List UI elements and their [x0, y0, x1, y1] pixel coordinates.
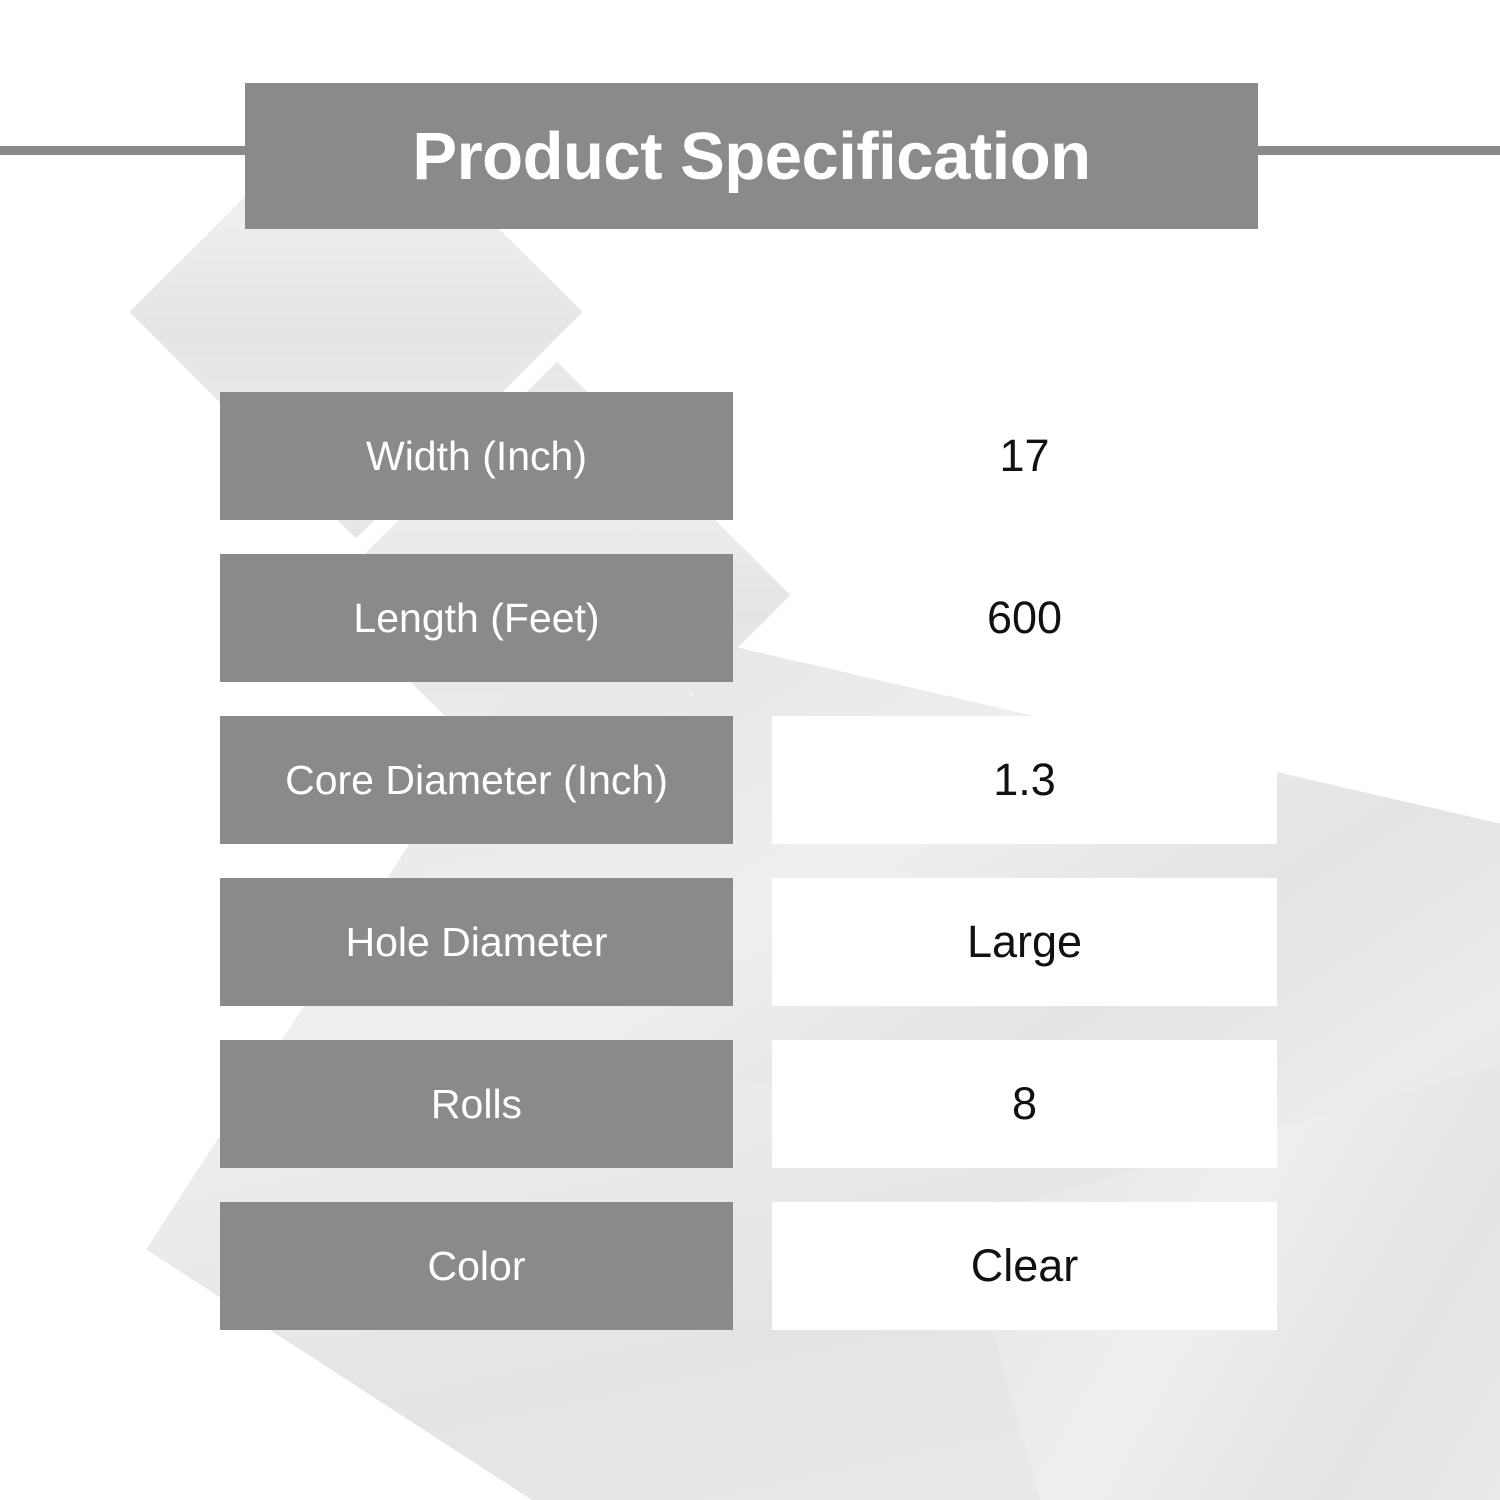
- spec-value-length: 600: [772, 554, 1277, 682]
- spec-value-core-diameter: 1.3: [772, 716, 1277, 844]
- header-rule-left: [0, 146, 248, 155]
- spec-value-color: Clear: [772, 1202, 1277, 1330]
- specification-table: Width (Inch) 17 Length (Feet) 600 Core D…: [0, 392, 1500, 1364]
- spec-row-core-diameter: Core Diameter (Inch) 1.3: [0, 716, 1500, 844]
- spec-row-color: Color Clear: [0, 1202, 1500, 1330]
- spec-label-core-diameter: Core Diameter (Inch): [220, 716, 733, 844]
- spec-value-width: 17: [772, 392, 1277, 520]
- title-banner: Product Specification: [245, 83, 1258, 229]
- spec-label-width: Width (Inch): [220, 392, 733, 520]
- spec-value-rolls: 8: [772, 1040, 1277, 1168]
- spec-label-length: Length (Feet): [220, 554, 733, 682]
- header-rule-right: [1256, 146, 1500, 155]
- spec-row-rolls: Rolls 8: [0, 1040, 1500, 1168]
- spec-row-hole-diameter: Hole Diameter Large: [0, 878, 1500, 1006]
- product-specification-page: Product Specification Width (Inch) 17 Le…: [0, 0, 1500, 1500]
- spec-value-hole-diameter: Large: [772, 878, 1277, 1006]
- spec-label-rolls: Rolls: [220, 1040, 733, 1168]
- spec-label-hole-diameter: Hole Diameter: [220, 878, 733, 1006]
- page-header: Product Specification: [0, 83, 1500, 229]
- page-title: Product Specification: [412, 123, 1090, 190]
- spec-row-length: Length (Feet) 600: [0, 554, 1500, 682]
- spec-row-width: Width (Inch) 17: [0, 392, 1500, 520]
- spec-label-color: Color: [220, 1202, 733, 1330]
